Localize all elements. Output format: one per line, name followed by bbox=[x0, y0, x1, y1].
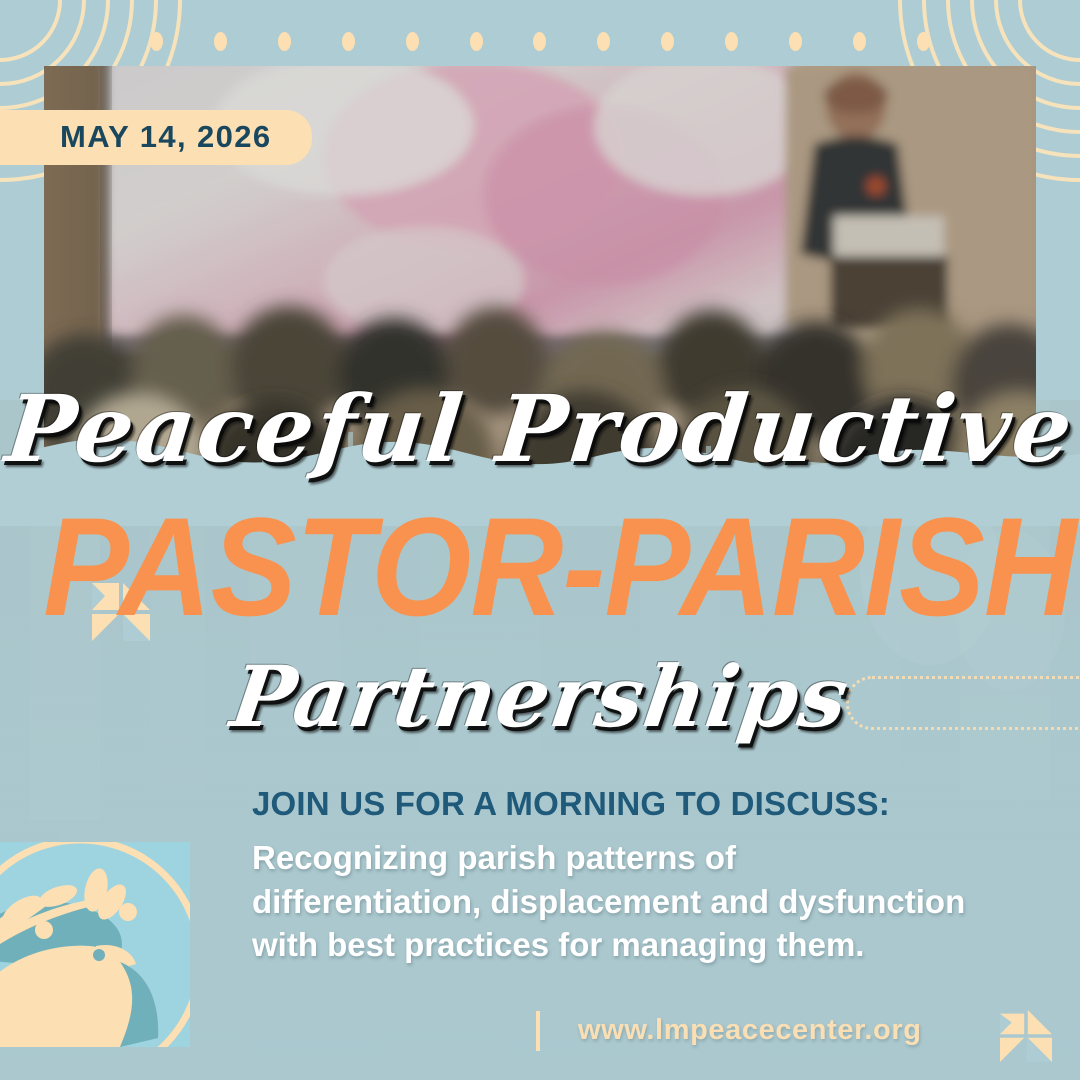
dot-icon bbox=[725, 32, 738, 51]
dot-row-decoration bbox=[150, 29, 930, 53]
dove-logo bbox=[0, 842, 190, 1047]
dot-icon bbox=[342, 32, 355, 51]
triangle-motif-icon bbox=[1000, 1010, 1052, 1062]
body-line: with best practices for managing them. bbox=[252, 923, 1042, 967]
title-script-top: Peaceful Productive bbox=[0, 383, 1080, 475]
dot-icon bbox=[917, 32, 930, 51]
dot-icon bbox=[533, 32, 546, 51]
dot-icon bbox=[597, 32, 610, 51]
dot-icon bbox=[661, 32, 674, 51]
poster-canvas: MAY 14, 2026 bbox=[0, 0, 1080, 1080]
body-line: Recognizing parish patterns of bbox=[252, 836, 1042, 880]
dot-icon bbox=[789, 32, 802, 51]
dot-icon bbox=[406, 32, 419, 51]
footer-divider bbox=[536, 1011, 540, 1051]
dot-icon bbox=[278, 32, 291, 51]
date-badge: MAY 14, 2026 bbox=[0, 110, 312, 165]
body-heading: JOIN US FOR A MORNING TO DISCUSS: bbox=[252, 786, 1042, 822]
body-line: differentiation, displacement and dysfun… bbox=[252, 880, 1042, 924]
website-url[interactable]: www.lmpeacecenter.org bbox=[578, 1014, 922, 1047]
body-copy: JOIN US FOR A MORNING TO DISCUSS: Recogn… bbox=[252, 786, 1042, 967]
dot-icon bbox=[853, 32, 866, 51]
dot-icon bbox=[470, 32, 483, 51]
title-main: PASTOR-PARISH bbox=[43, 497, 1037, 637]
dot-icon bbox=[150, 32, 163, 51]
title-script-bottom: Partnerships bbox=[0, 655, 1080, 739]
dot-icon bbox=[214, 32, 227, 51]
